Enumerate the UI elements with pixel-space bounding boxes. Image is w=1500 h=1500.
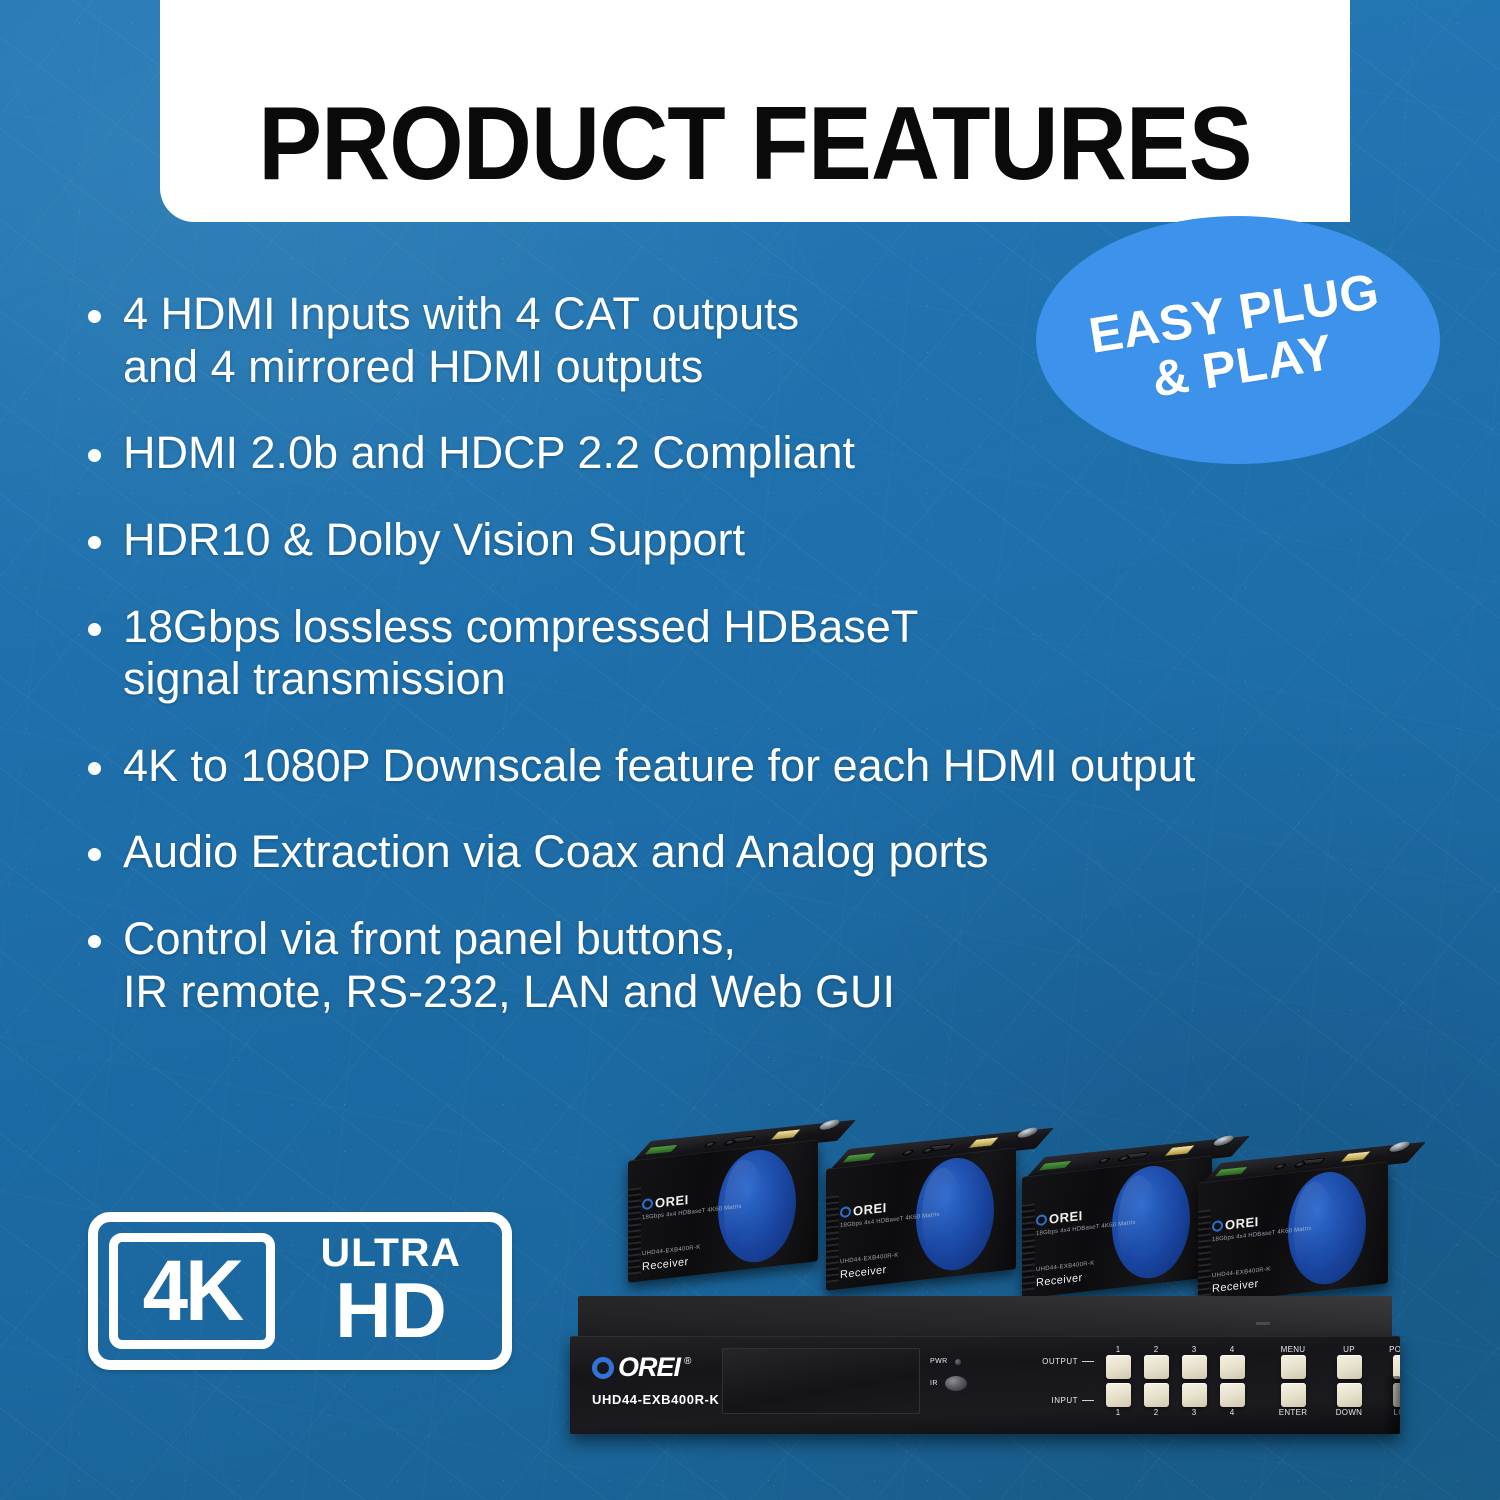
ir-label: IR	[930, 1380, 938, 1387]
vent-grille-icon	[628, 1187, 641, 1274]
input-push-button[interactable]	[1220, 1383, 1245, 1407]
down-push-button[interactable]	[1337, 1383, 1362, 1407]
label-dash-icon	[1082, 1361, 1094, 1362]
power-led-icon	[955, 1359, 961, 1365]
receiver-role-text: Receiver	[642, 1256, 689, 1273]
input-button-number: 2	[1154, 1407, 1158, 1418]
vent-grille-icon	[1198, 1209, 1211, 1296]
input-button-3[interactable]: 3	[1180, 1383, 1208, 1418]
list-item: Audio Extraction via Coax and Analog por…	[88, 826, 1418, 879]
receiver-body: OREI 18Gbps 4x4 HDBaseT 4K60 Matrix UHD4…	[1022, 1155, 1212, 1299]
input-button-1[interactable]: 1	[1104, 1383, 1132, 1418]
chassis-top-surface	[578, 1296, 1392, 1338]
receiver-unit: OREI 18Gbps 4x4 HDBaseT 4K60 Matrix UHD4…	[628, 1128, 818, 1278]
list-item: Control via front panel buttons, IR remo…	[88, 913, 1418, 1018]
receiver-brand-text: OREI	[655, 1192, 689, 1211]
orei-brand-text: OREI	[618, 1352, 680, 1383]
ir-receiver-row: IR	[930, 1376, 967, 1391]
bullet-icon	[88, 536, 101, 549]
feature-text: 18Gbps lossless compressed HDBaseT signa…	[123, 601, 918, 706]
output-label: OUTPUT	[1040, 1357, 1094, 1366]
chassis-front-panel: OREI ® UHD44-EXB400R-K PWR IR	[570, 1336, 1400, 1434]
indicator-group: PWR IR	[930, 1358, 967, 1402]
output-push-button[interactable]	[1106, 1355, 1131, 1379]
down-button[interactable]: DOWN	[1326, 1383, 1372, 1418]
input-button-number: 4	[1230, 1407, 1234, 1418]
logo-ultra-hd-box: ULTRA HD	[275, 1222, 502, 1360]
enter-push-button[interactable]	[1281, 1383, 1306, 1407]
feature-text: 4K to 1080P Downscale feature for each H…	[123, 740, 1195, 793]
bullet-icon	[88, 310, 101, 323]
control-button-group: MENU UP POWER ENTER	[1270, 1344, 1400, 1418]
chassis-side-shading	[1382, 1376, 1400, 1434]
input-label: INPUT	[1040, 1396, 1094, 1405]
enter-button[interactable]: ENTER	[1270, 1383, 1316, 1418]
audio-jack-icon	[1273, 1163, 1288, 1170]
lcd-display-window	[722, 1348, 920, 1414]
output-push-button[interactable]	[1144, 1355, 1169, 1379]
input-push-button[interactable]	[1182, 1383, 1207, 1407]
4k-ultra-hd-logo: 4K ULTRA HD	[88, 1212, 512, 1370]
up-button[interactable]: UP	[1326, 1344, 1372, 1379]
power-button[interactable]: POWER	[1382, 1344, 1400, 1379]
receiver-unit: OREI 18Gbps 4x4 HDBaseT 4K60 Matrix UHD4…	[1022, 1144, 1212, 1294]
feature-text: 4 HDMI Inputs with 4 CAT outputs and 4 m…	[123, 288, 799, 393]
pwr-label: PWR	[930, 1358, 948, 1365]
output-push-button[interactable]	[1220, 1355, 1245, 1379]
receiver-role-text: Receiver	[840, 1264, 887, 1281]
easy-plug-play-badge: EASY PLUG & PLAY	[1036, 216, 1440, 464]
lan-port-icon	[1339, 1151, 1372, 1163]
logo-4k-box: 4K	[109, 1233, 275, 1349]
input-button-row: INPUT 1 2 3	[1040, 1383, 1246, 1418]
input-button-number: 1	[1116, 1407, 1120, 1418]
page-title: PRODUCT FEATURES	[258, 92, 1251, 196]
receiver-sub-text: UHD44-EXB400R-K	[840, 1253, 899, 1266]
audio-jack-icon	[703, 1141, 718, 1148]
input-button-2[interactable]: 2	[1142, 1383, 1170, 1418]
orei-ring-icon	[592, 1357, 614, 1379]
receiver-role-text: Receiver	[1036, 1272, 1083, 1289]
antenna-screw-icon	[1386, 1141, 1413, 1153]
receiver-brand-text: OREI	[1225, 1214, 1259, 1233]
bullet-icon	[88, 623, 101, 636]
feature-text: HDMI 2.0b and HDCP 2.2 Compliant	[123, 427, 855, 480]
matrix-switcher-chassis: OREI ® UHD44-EXB400R-K PWR IR	[570, 1296, 1400, 1442]
receiver-body: OREI 18Gbps 4x4 HDBaseT 4K60 Matrix UHD4…	[826, 1147, 1016, 1291]
badge-text: EASY PLUG & PLAY	[1085, 265, 1391, 415]
list-item: 4K to 1080P Downscale feature for each H…	[88, 740, 1418, 793]
enter-button-label: ENTER	[1279, 1407, 1308, 1418]
output-button-3[interactable]: 3	[1180, 1344, 1208, 1379]
control-bottom-row: ENTER DOWN LOCK	[1270, 1383, 1400, 1418]
control-top-row: MENU UP POWER	[1270, 1344, 1400, 1379]
receiver-sub-text: UHD44-EXB400R-K	[1036, 1261, 1095, 1274]
receiver-brand: OREI	[840, 1200, 887, 1220]
lan-port-icon	[1163, 1145, 1196, 1157]
output-button-number: 3	[1192, 1344, 1196, 1355]
bullet-icon	[88, 848, 101, 861]
feature-text: Control via front panel buttons, IR remo…	[123, 913, 895, 1018]
receiver-unit: OREI 18Gbps 4x4 HDBaseT 4K60 Matrix UHD4…	[826, 1136, 1016, 1286]
feature-text: Audio Extraction via Coax and Analog por…	[123, 826, 989, 879]
bullet-icon	[88, 762, 101, 775]
lan-port-icon	[967, 1137, 1000, 1149]
receiver-brand: OREI	[642, 1192, 689, 1212]
antenna-screw-icon	[1014, 1127, 1041, 1139]
output-button-number: 1	[1116, 1344, 1120, 1355]
up-push-button[interactable]	[1337, 1355, 1362, 1379]
input-button-4[interactable]: 4	[1218, 1383, 1246, 1418]
output-button-1[interactable]: 1	[1104, 1344, 1132, 1379]
input-push-button[interactable]	[1144, 1383, 1169, 1407]
ir-lens-icon	[945, 1376, 967, 1391]
feature-text: HDR10 & Dolby Vision Support	[123, 514, 745, 567]
output-push-button[interactable]	[1182, 1355, 1207, 1379]
menu-button[interactable]: MENU	[1270, 1344, 1316, 1379]
receiver-brand-text: OREI	[853, 1200, 887, 1219]
logo-hd-text: HD	[335, 1275, 446, 1347]
list-item: 18Gbps lossless compressed HDBaseT signa…	[88, 601, 1418, 706]
receiver-brand: OREI	[1036, 1208, 1083, 1228]
audio-jack-icon	[901, 1149, 916, 1156]
orei-ring-icon	[840, 1206, 851, 1218]
list-item: HDR10 & Dolby Vision Support	[88, 514, 1418, 567]
orei-ring-icon	[1212, 1220, 1223, 1232]
orei-ring-icon	[1036, 1214, 1047, 1226]
label-dash-icon	[1082, 1400, 1094, 1401]
registered-trademark-icon: ®	[684, 1356, 691, 1367]
receiver-body: OREI 18Gbps 4x4 HDBaseT 4K60 Matrix UHD4…	[1198, 1161, 1388, 1305]
model-number: UHD44-EXB400R-K	[592, 1392, 719, 1407]
output-button-number: 4	[1230, 1344, 1234, 1355]
power-button-label: POWER	[1389, 1344, 1400, 1355]
bullet-icon	[88, 449, 101, 462]
vent-grille-icon	[1022, 1203, 1035, 1290]
menu-button-label: MENU	[1281, 1344, 1306, 1355]
antenna-screw-icon	[1210, 1135, 1237, 1147]
receiver-unit: OREI 18Gbps 4x4 HDBaseT 4K60 Matrix UHD4…	[1198, 1150, 1388, 1300]
logo-ultra-text: ULTRA	[320, 1233, 460, 1273]
receiver-body: OREI 18Gbps 4x4 HDBaseT 4K60 Matrix UHD4…	[628, 1139, 818, 1283]
output-button-row: OUTPUT 1 2 3	[1040, 1344, 1246, 1379]
terminal-block-icon	[1215, 1167, 1248, 1177]
logo-4k-text: 4K	[143, 1248, 242, 1334]
vent-grille-icon	[826, 1195, 839, 1282]
audio-jack-icon	[1097, 1157, 1112, 1164]
down-button-label: DOWN	[1336, 1407, 1363, 1418]
orei-ring-icon	[642, 1198, 653, 1210]
terminal-block-icon	[645, 1145, 678, 1155]
header-banner: PRODUCT FEATURES	[160, 0, 1350, 222]
orei-brand-logo: OREI ®	[592, 1352, 691, 1383]
lan-port-icon	[769, 1129, 802, 1141]
receiver-role-text: Receiver	[1212, 1278, 1259, 1295]
receiver-brand-text: OREI	[1049, 1208, 1083, 1227]
power-indicator-row: PWR	[930, 1358, 967, 1365]
terminal-block-icon	[1039, 1161, 1072, 1171]
receiver-sub-text: UHD44-EXB400R-K	[642, 1245, 701, 1258]
up-button-label: UP	[1343, 1344, 1355, 1355]
antenna-screw-icon	[816, 1119, 843, 1131]
io-button-matrix: OUTPUT 1 2 3	[1040, 1344, 1246, 1418]
bullet-icon	[88, 935, 101, 948]
output-button-number: 2	[1154, 1344, 1158, 1355]
input-push-button[interactable]	[1106, 1383, 1131, 1407]
output-button-4[interactable]: 4	[1218, 1344, 1246, 1379]
product-photo: OREI 18Gbps 4x4 HDBaseT 4K60 Matrix UHD4…	[570, 1120, 1400, 1440]
receiver-brand: OREI	[1212, 1214, 1259, 1234]
output-button-2[interactable]: 2	[1142, 1344, 1170, 1379]
input-button-number: 3	[1192, 1407, 1196, 1418]
terminal-block-icon	[843, 1153, 876, 1163]
receiver-sub-text: UHD44-EXB400R-K	[1212, 1267, 1271, 1280]
menu-push-button[interactable]	[1281, 1355, 1306, 1379]
